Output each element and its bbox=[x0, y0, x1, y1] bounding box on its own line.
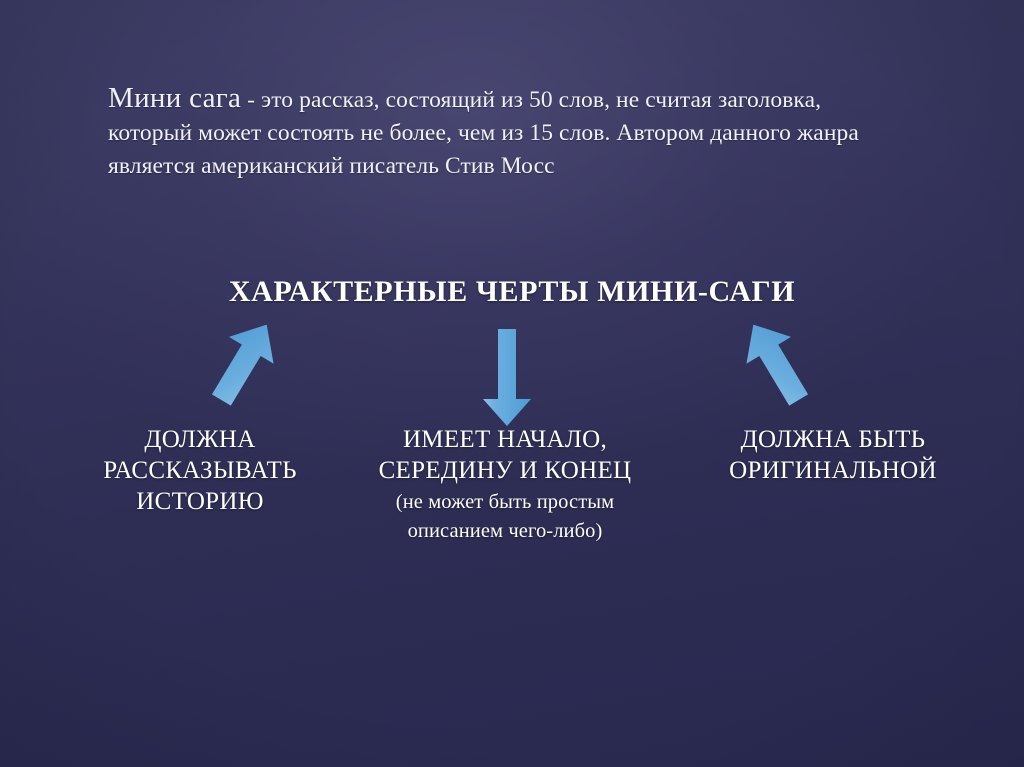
branch-title: ИМЕЕТ НАЧАЛО, СЕРЕДИНУ И КОНЕЦ bbox=[355, 424, 655, 486]
intro-lead-term: Мини сага bbox=[108, 82, 241, 114]
arrow-left-icon bbox=[199, 311, 289, 413]
branch-item-3: ДОЛЖНА БЫТЬ ОРИГИНАЛЬНОЙ bbox=[693, 424, 973, 546]
branch-note: (не может быть простым описанием чего-ли… bbox=[355, 488, 655, 546]
branches-row: ДОЛЖНА РАССКАЗЫВАТЬ ИСТОРИЮ ИМЕЕТ НАЧАЛО… bbox=[0, 424, 1024, 546]
section-heading: ХАРАКТЕРНЫЕ ЧЕРТЫ МИНИ-САГИ bbox=[0, 275, 1024, 309]
intro-paragraph: Мини сага - это рассказ, состоящий из 50… bbox=[108, 82, 898, 183]
arrow-middle-icon bbox=[483, 329, 531, 426]
branch-title: ДОЛЖНА БЫТЬ ОРИГИНАЛЬНОЙ bbox=[693, 424, 973, 486]
branch-item-1: ДОЛЖНА РАССКАЗЫВАТЬ ИСТОРИЮ bbox=[75, 424, 325, 546]
arrow-right-icon bbox=[731, 311, 821, 413]
slide-canvas: Мини сага - это рассказ, состоящий из 50… bbox=[0, 0, 1024, 767]
branch-title: ДОЛЖНА РАССКАЗЫВАТЬ ИСТОРИЮ bbox=[75, 424, 325, 517]
branch-item-2: ИМЕЕТ НАЧАЛО, СЕРЕДИНУ И КОНЕЦ (не может… bbox=[355, 424, 655, 546]
